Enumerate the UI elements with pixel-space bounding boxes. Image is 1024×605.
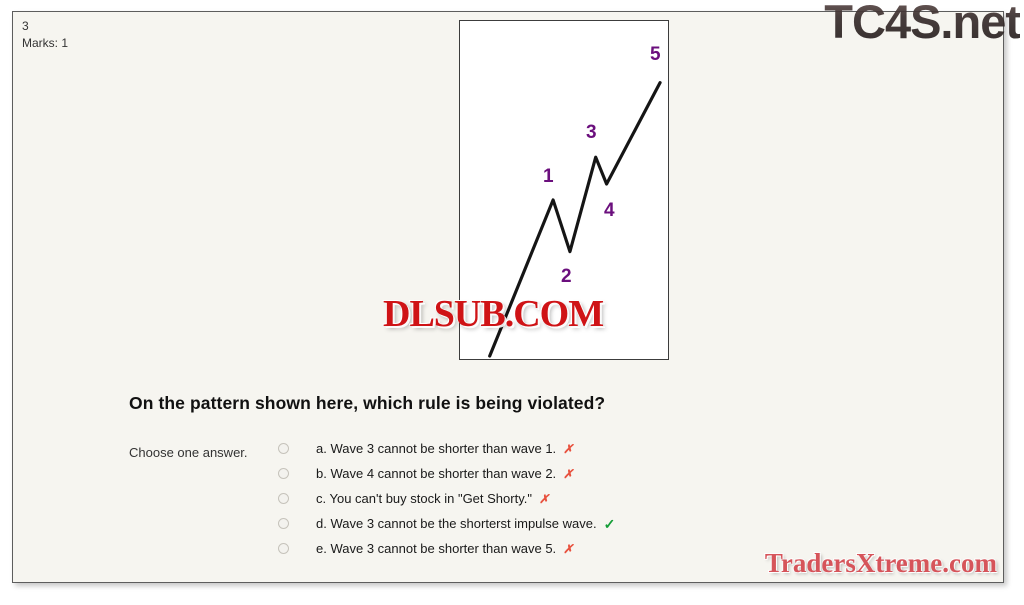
wave-label-2: 2	[561, 267, 572, 286]
answer-option-label: c. You can't buy stock in "Get Shorty."	[316, 491, 532, 506]
watermark-tc4s: TC4S.net	[824, 0, 1020, 49]
answer-radio-button[interactable]	[278, 468, 289, 479]
wave-label-4: 4	[604, 201, 615, 220]
quiz-question-panel: 3 Marks: 1 1 2 3 4 5 On the pattern show…	[12, 11, 1004, 583]
incorrect-cross-icon: ✗	[563, 543, 573, 555]
answer-option-row[interactable]: a. Wave 3 cannot be shorter than wave 1.…	[278, 436, 708, 461]
choose-one-answer-label: Choose one answer.	[129, 445, 248, 460]
incorrect-cross-icon: ✗	[539, 493, 549, 505]
answer-option-row[interactable]: e. Wave 3 cannot be shorter than wave 5.…	[278, 536, 708, 561]
answer-radio-button[interactable]	[278, 543, 289, 554]
answer-option-label: b. Wave 4 cannot be shorter than wave 2.	[316, 466, 556, 481]
wave-label-5: 5	[650, 45, 661, 64]
correct-check-icon: ✓	[604, 517, 616, 531]
answer-option-label: e. Wave 3 cannot be shorter than wave 5.	[316, 541, 556, 556]
incorrect-cross-icon: ✗	[563, 468, 573, 480]
watermark-tradersxtreme: TradersXtreme.com	[765, 548, 997, 579]
answer-option-row[interactable]: c. You can't buy stock in "Get Shorty."✗	[278, 486, 708, 511]
question-marks: Marks: 1	[22, 35, 68, 52]
answer-radio-button[interactable]	[278, 493, 289, 504]
incorrect-cross-icon: ✗	[563, 443, 573, 455]
watermark-dlsub-text: DLSUB.COM	[383, 293, 603, 335]
answer-option-row[interactable]: d. Wave 3 cannot be the shorterst impuls…	[278, 511, 708, 536]
wave-label-1: 1	[543, 167, 554, 186]
question-number: 3	[22, 18, 68, 35]
answer-option-label: d. Wave 3 cannot be the shorterst impuls…	[316, 516, 597, 531]
answer-radio-button[interactable]	[278, 518, 289, 529]
answer-radio-button[interactable]	[278, 443, 289, 454]
question-title: On the pattern shown here, which rule is…	[129, 393, 605, 414]
watermark-dlsub: DLSUB.COM	[383, 292, 603, 336]
question-meta: 3 Marks: 1	[22, 18, 68, 52]
answer-options-list: a. Wave 3 cannot be shorter than wave 1.…	[278, 436, 708, 561]
wave-label-3: 3	[586, 123, 597, 142]
answer-option-label: a. Wave 3 cannot be shorter than wave 1.	[316, 441, 556, 456]
answer-option-row[interactable]: b. Wave 4 cannot be shorter than wave 2.…	[278, 461, 708, 486]
